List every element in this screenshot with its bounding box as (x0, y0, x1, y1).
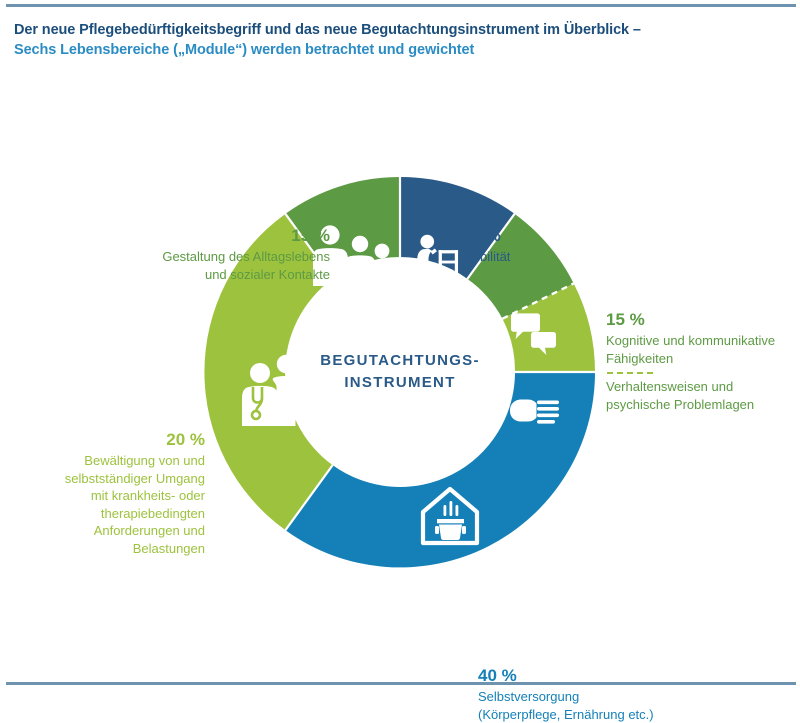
callout-percent-gestaltung-alltag: 15 % (70, 225, 330, 247)
callout-line: Gestaltung des Alltagslebens (70, 248, 330, 266)
donut-center-hole (300, 272, 500, 472)
callout-line: Anforderungen und (20, 522, 205, 540)
callout-text-mobilitaet: Mobilität (462, 248, 662, 266)
callout-dashed-divider (607, 372, 653, 374)
callout-percent-bewaeltigung: 20 % (20, 429, 205, 451)
callout-kognitive-verhalten: 15 % Kognitive und kommunikative Fähigke… (606, 309, 800, 413)
callout-line: Mobilität (462, 248, 662, 266)
infographic-page: Der neue Pflegebedürftigkeitsbegriff und… (0, 0, 800, 691)
callout-text-bewaeltigung: Bewältigung von und selbstständiger Umga… (20, 452, 205, 557)
callout-mobilitaet: 10 % Mobilität (462, 225, 662, 266)
chart-stage: BEGUTACHTUNGS- INSTRUMENT 15 % Gestaltun… (0, 95, 800, 685)
callout-percent-selbstversorgung: 40 % (478, 665, 798, 687)
page-title-line-1: Der neue Pflegebedürftigkeitsbegriff und… (14, 20, 774, 40)
callout-text-gestaltung-alltag: Gestaltung des Alltagslebens und soziale… (70, 248, 330, 283)
callout-gestaltung-alltag: 15 % Gestaltung des Alltagslebens und so… (70, 225, 330, 283)
callout-bewaeltigung: 20 % Bewältigung von und selbstständiger… (20, 429, 205, 557)
page-title: Der neue Pflegebedürftigkeitsbegriff und… (14, 20, 774, 60)
callout-line: Kognitive und kommunikative (606, 332, 800, 350)
callout-text-selbstversorgung: Selbstversorgung (Körperpflege, Ernährun… (478, 688, 798, 723)
callout-selbstversorgung: 40 % Selbstversorgung (Körperpflege, Ern… (478, 665, 798, 723)
callout-line: (Körperpflege, Ernährung etc.) (478, 706, 798, 723)
callout-line: Belastungen (20, 540, 205, 558)
page-title-line-2: Sechs Lebensbereiche („Module“) werden b… (14, 40, 774, 60)
callout-line: Bewältigung von und (20, 452, 205, 470)
callout-line: selbstständiger Umgang (20, 470, 205, 488)
callout-line: therapiebedingten (20, 505, 205, 523)
callout-line: mit krankheits- oder (20, 487, 205, 505)
callout-line: Fähigkeiten (606, 350, 800, 368)
callout-percent-kognitive: 15 % (606, 309, 800, 331)
callout-text-kognitive: Kognitive und kommunikative Fähigkeiten (606, 332, 800, 367)
callout-text-verhaltensweisen: Verhaltensweisen und psychische Probleml… (606, 378, 800, 413)
top-divider-rule (6, 4, 796, 7)
callout-line: Verhaltensweisen und (606, 378, 800, 396)
callout-percent-mobilitaet: 10 % (462, 225, 662, 247)
callout-line: psychische Problemlagen (606, 396, 800, 414)
callout-line: und sozialer Kontakte (70, 266, 330, 284)
